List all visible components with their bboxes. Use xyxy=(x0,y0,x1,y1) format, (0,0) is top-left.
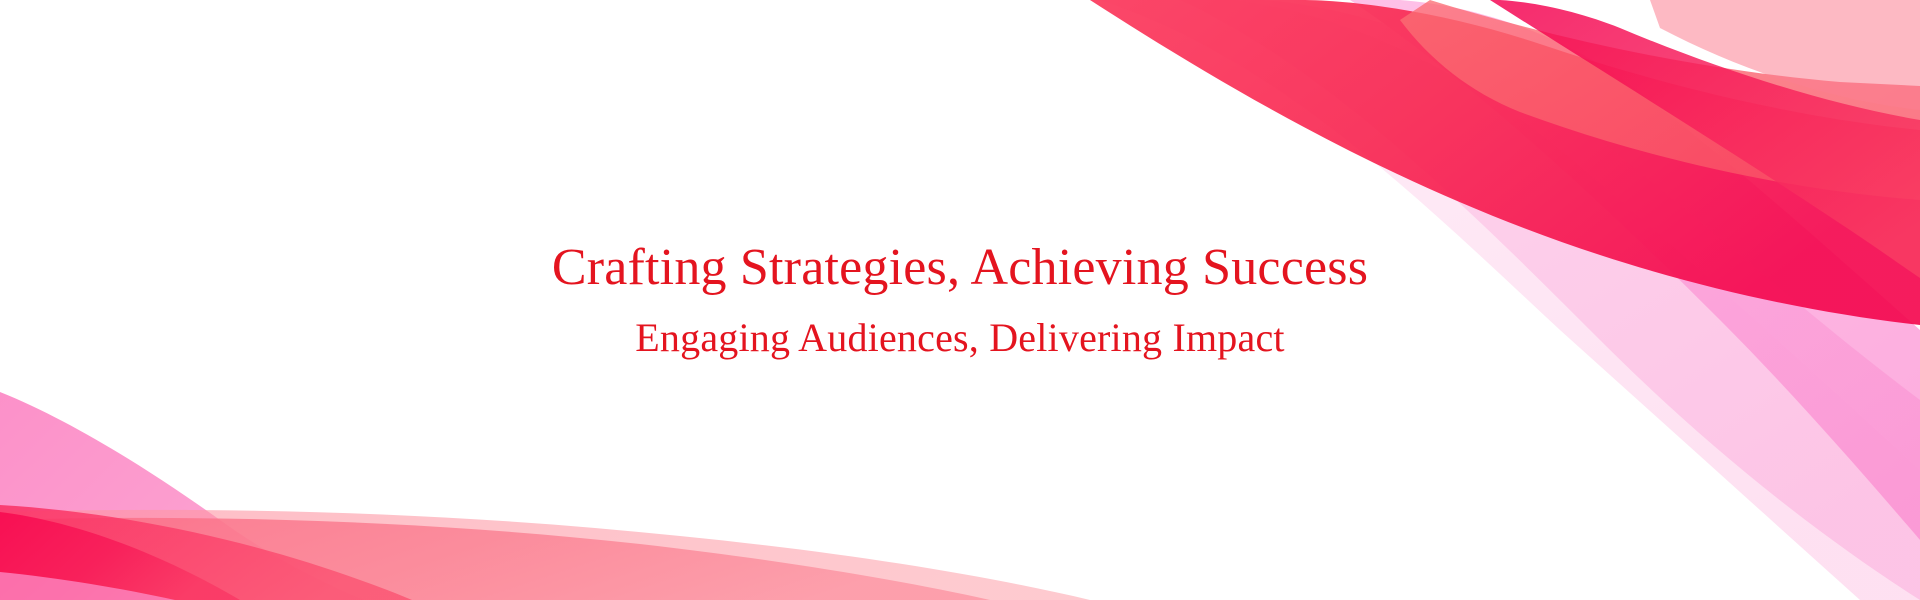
title-banner: Crafting Strategies, Achieving Success E… xyxy=(0,0,1920,600)
page-title: Crafting Strategies, Achieving Success xyxy=(552,239,1368,297)
banner-text-block: Crafting Strategies, Achieving Success E… xyxy=(0,0,1920,600)
page-subtitle: Engaging Audiences, Delivering Impact xyxy=(635,315,1284,361)
